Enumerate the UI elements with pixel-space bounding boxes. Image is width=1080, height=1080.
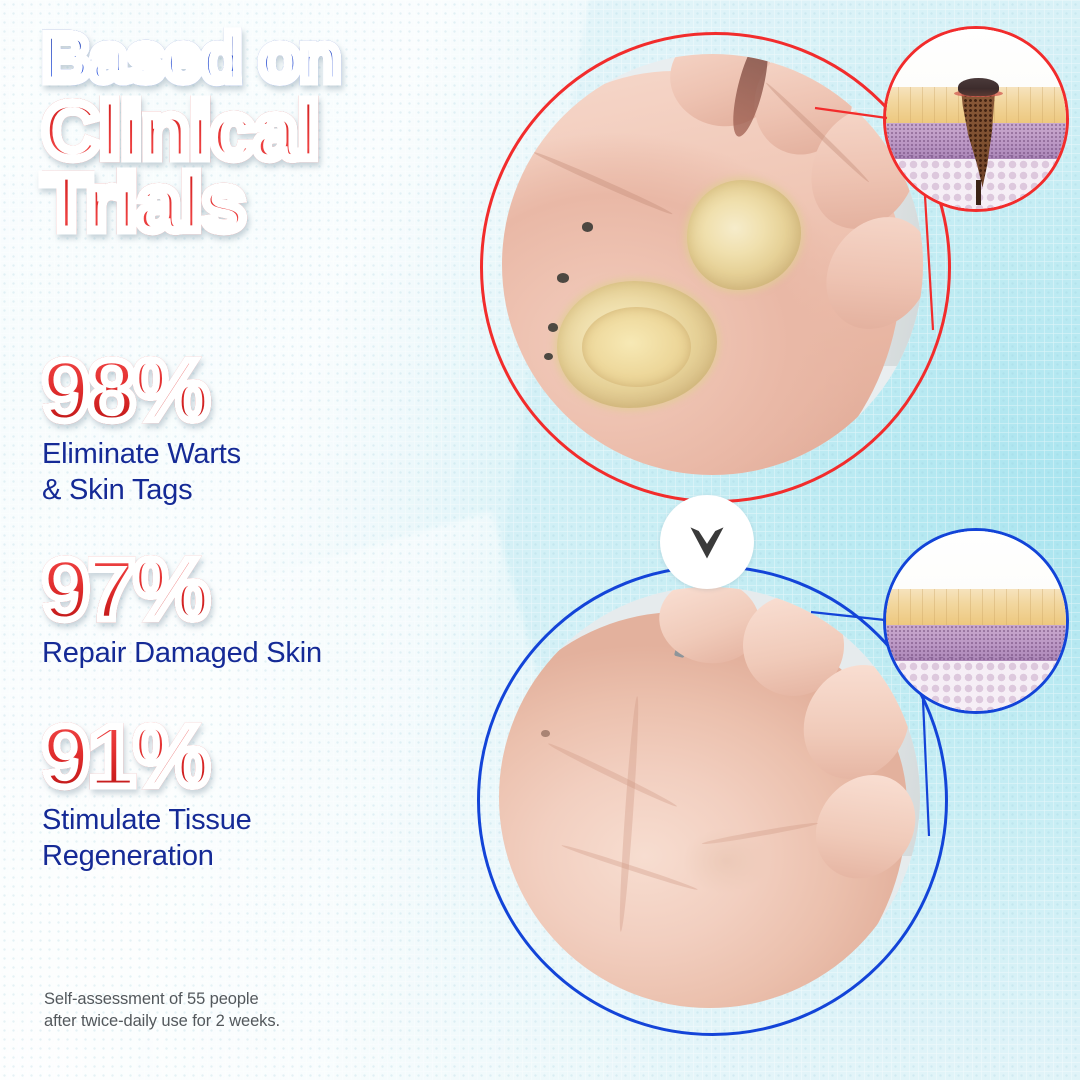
skin-spot	[582, 222, 593, 231]
stat-label: Eliminate Warts & Skin Tags	[42, 437, 462, 509]
stat-item: 98% Eliminate Warts & Skin Tags	[42, 352, 462, 509]
after-foot-image	[499, 587, 920, 1008]
before-after-arrow-badge	[660, 495, 754, 589]
stat-label-line-1: Repair Damaged Skin	[42, 637, 322, 669]
disclaimer-line-2: after twice-daily use for 2 weeks.	[44, 1012, 280, 1030]
diagram-surface-air	[886, 531, 1066, 589]
stat-percentage: 98%	[42, 352, 462, 431]
statistics-list: 98% Eliminate Warts & Skin Tags 97% Repa…	[42, 352, 462, 891]
comparison-column	[455, 0, 1080, 1080]
diagram-epidermis-layer	[886, 589, 1066, 625]
before-skin-diagram-inset	[883, 26, 1069, 212]
disclaimer-line-1: Self-assessment of 55 people	[44, 990, 259, 1008]
before-photo	[502, 54, 923, 475]
stat-item: 97% Repair Damaged Skin	[42, 551, 462, 672]
stat-label: Repair Damaged Skin	[42, 636, 462, 672]
stat-label: Stimulate Tissue Regeneration	[42, 803, 462, 875]
healed-skin-patch	[676, 823, 777, 899]
diagram-subcutaneous-layer	[886, 661, 1066, 711]
wart-surface-cap	[958, 78, 999, 96]
after-skin-diagram-inset	[883, 528, 1069, 714]
wart-lesion-core	[582, 307, 691, 387]
headline: Based on Clinical Trials	[42, 26, 462, 241]
headline-line-1: Based on	[42, 26, 462, 91]
subcutaneous-texture	[886, 661, 1066, 711]
wart-root-tip	[976, 180, 981, 205]
epidermis-texture	[886, 589, 1066, 625]
skin-cross-section-diagram	[886, 531, 1066, 711]
stat-label-line-1: Stimulate Tissue	[42, 804, 252, 836]
before-foot-image	[502, 54, 923, 475]
after-photo	[499, 587, 920, 1008]
diagram-dermis-layer	[886, 625, 1066, 661]
stat-percentage: 97%	[42, 551, 462, 630]
chevron-down-icon	[685, 520, 729, 564]
headline-line-3: Trials	[42, 165, 462, 241]
infographic-canvas: Based on Clinical Trials 98% Eliminate W…	[0, 0, 1080, 1080]
skin-spot	[541, 730, 549, 737]
dermis-texture	[886, 625, 1066, 661]
stat-label-line-2: Regeneration	[42, 840, 214, 872]
stat-label-line-1: Eliminate Warts	[42, 438, 241, 470]
stat-percentage: 91%	[42, 718, 462, 797]
left-content-column: Based on Clinical Trials 98% Eliminate W…	[0, 0, 470, 1080]
stat-label-line-2: & Skin Tags	[42, 474, 192, 506]
stat-item: 91% Stimulate Tissue Regeneration	[42, 718, 462, 875]
skin-cross-section-diagram	[886, 29, 1066, 209]
disclaimer-text: Self-assessment of 55 people after twice…	[44, 988, 404, 1032]
